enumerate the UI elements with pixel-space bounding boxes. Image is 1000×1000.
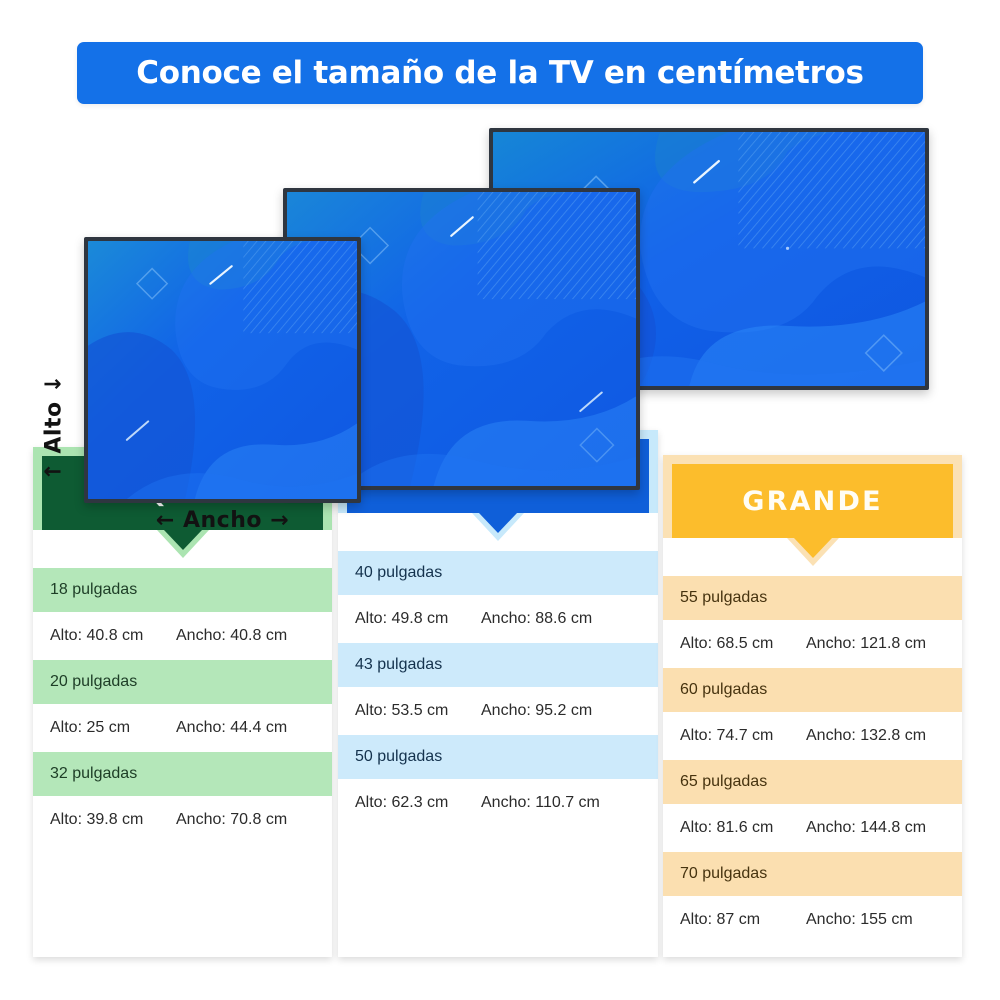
alto-value: Alto: 74.7 cm: [680, 727, 806, 745]
notch-inner-icon: [479, 513, 517, 533]
table-row: Alto: 62.3 cm Ancho: 110.7 cm: [338, 779, 658, 827]
table-row: Alto: 49.8 cm Ancho: 88.6 cm: [338, 595, 658, 643]
table-row: Alto: 74.7 cm Ancho: 132.8 cm: [663, 712, 962, 760]
card-grande-header-wrap: GRANDE: [663, 455, 962, 538]
list-item: 20 pulgadas: [33, 660, 332, 704]
alto-value: Alto: 49.8 cm: [355, 610, 481, 628]
inches-label: 20 pulgadas: [50, 673, 137, 691]
inches-label: 55 pulgadas: [680, 589, 767, 607]
list-item: 60 pulgadas: [663, 668, 962, 712]
alto-value: Alto: 68.5 cm: [680, 635, 806, 653]
label-alto-text: ↑ Alto ↓: [42, 374, 67, 480]
inches-label: 32 pulgadas: [50, 765, 137, 783]
label-ancho-text: ← Ancho →: [156, 508, 289, 533]
table-row: Alto: 39.8 cm Ancho: 70.8 cm: [33, 796, 332, 844]
table-row: Alto: 25 cm Ancho: 44.4 cm: [33, 704, 332, 752]
card-grande: GRANDE 55 pulgadas Alto: 68.5 cm Ancho: …: [663, 455, 962, 957]
inches-label: 43 pulgadas: [355, 656, 442, 674]
tv-wallpaper-icon: [88, 241, 357, 499]
list-item: 65 pulgadas: [663, 760, 962, 804]
list-item: 55 pulgadas: [663, 576, 962, 620]
ancho-value: Ancho: 40.8 cm: [176, 627, 287, 645]
ancho-value: Ancho: 88.6 cm: [481, 610, 592, 628]
alto-value: Alto: 87 cm: [680, 911, 806, 929]
alto-value: Alto: 40.8 cm: [50, 627, 176, 645]
inches-label: 70 pulgadas: [680, 865, 767, 883]
list-item: 50 pulgadas: [338, 735, 658, 779]
tv-small-screen: [88, 241, 357, 499]
list-item: 70 pulgadas: [663, 852, 962, 896]
table-row: Alto: 53.5 cm Ancho: 95.2 cm: [338, 687, 658, 735]
ancho-value: Ancho: 70.8 cm: [176, 811, 287, 829]
ancho-value: Ancho: 155 cm: [806, 911, 913, 929]
ancho-value: Ancho: 132.8 cm: [806, 727, 926, 745]
label-alto: ↑ Alto ↓: [36, 357, 72, 497]
ancho-value: Ancho: 95.2 cm: [481, 702, 592, 720]
alto-value: Alto: 25 cm: [50, 719, 176, 737]
table-row: Alto: 81.6 cm Ancho: 144.8 cm: [663, 804, 962, 852]
list-item: 40 pulgadas: [338, 551, 658, 595]
card-grande-header: GRANDE: [672, 464, 953, 538]
notch-inner-icon: [164, 530, 202, 550]
inches-label: 60 pulgadas: [680, 681, 767, 699]
table-row: Alto: 40.8 cm Ancho: 40.8 cm: [33, 612, 332, 660]
list-item: 18 pulgadas: [33, 568, 332, 612]
list-item: 43 pulgadas: [338, 643, 658, 687]
alto-value: Alto: 39.8 cm: [50, 811, 176, 829]
ancho-value: Ancho: 110.7 cm: [481, 794, 600, 812]
inches-label: 40 pulgadas: [355, 564, 442, 582]
ancho-value: Ancho: 44.4 cm: [176, 719, 287, 737]
inches-label: 65 pulgadas: [680, 773, 767, 791]
alto-value: Alto: 62.3 cm: [355, 794, 481, 812]
inches-label: 50 pulgadas: [355, 748, 442, 766]
card-grande-title: GRANDE: [742, 486, 883, 517]
tv-small: [84, 237, 361, 503]
alto-value: Alto: 53.5 cm: [355, 702, 481, 720]
alto-value: Alto: 81.6 cm: [680, 819, 806, 837]
table-row: Alto: 87 cm Ancho: 155 cm: [663, 896, 962, 944]
list-item: 32 pulgadas: [33, 752, 332, 796]
ancho-value: Ancho: 144.8 cm: [806, 819, 926, 837]
inches-label: 18 pulgadas: [50, 581, 137, 599]
ancho-value: Ancho: 121.8 cm: [806, 635, 926, 653]
label-ancho: ← Ancho →: [84, 508, 361, 533]
card-mediano: MEDIANO 40 pulgadas Alto: 49.8 cm Ancho:…: [338, 430, 658, 957]
table-row: Alto: 68.5 cm Ancho: 121.8 cm: [663, 620, 962, 668]
notch-inner-icon: [794, 538, 832, 558]
